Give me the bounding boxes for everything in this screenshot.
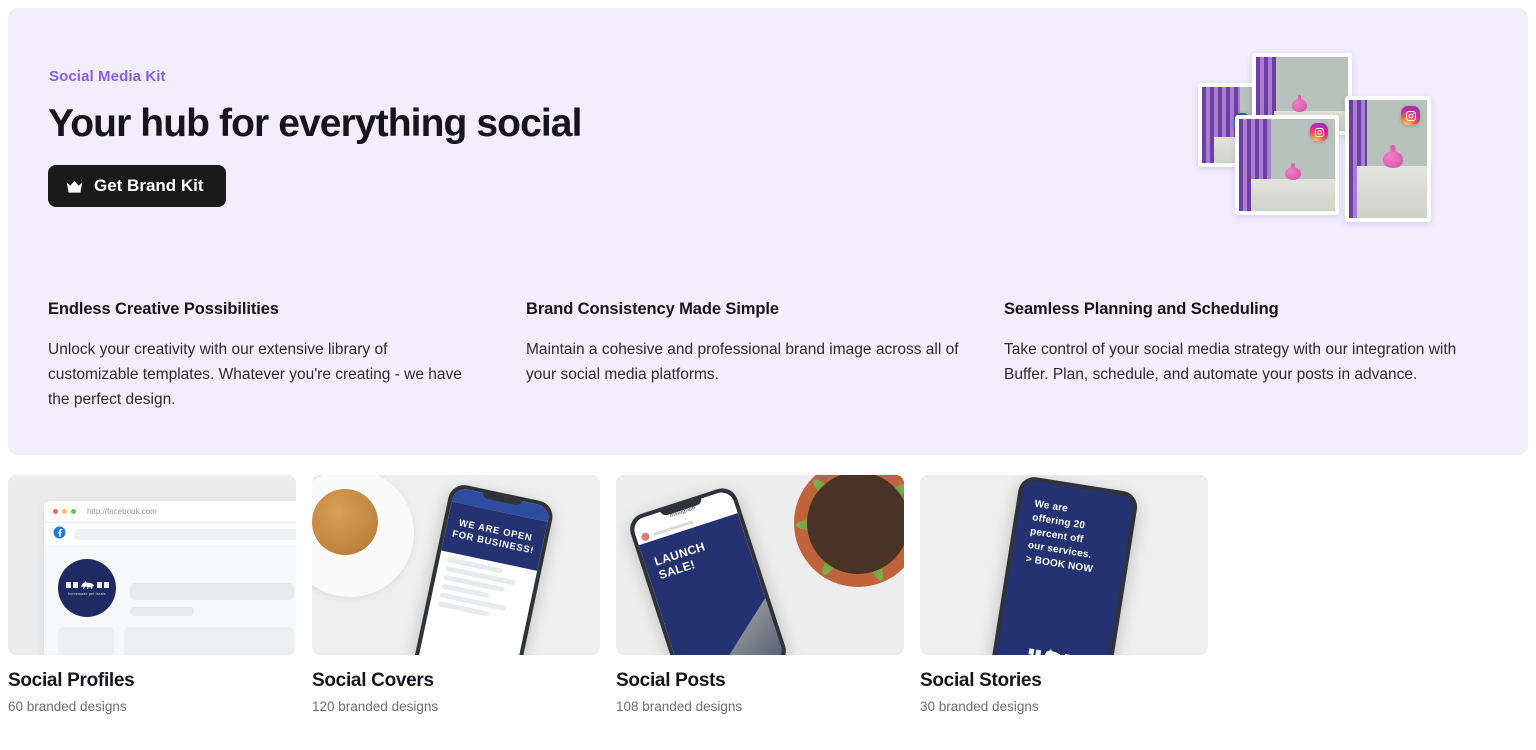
skeleton-line [130,607,194,616]
feature-body: Unlock your creativity with our extensiv… [48,337,481,412]
category-card-grid: http://facebook.com [8,475,1208,714]
traffic-light-yellow [62,509,67,514]
champagne-photo [658,576,785,655]
phone-screen: WE ARE OPEN FOR BUSINESS! [415,487,550,655]
browser-toolbar: http://facebook.com [44,501,296,523]
get-brand-kit-label: Get Brand Kit [94,176,204,196]
card-count: 30 branded designs [920,699,1208,714]
page-root: Social Media Kit Your hub for everything… [0,0,1536,750]
feature-heading: Brand Consistency Made Simple [526,300,959,319]
facebook-navbar [44,523,296,547]
story-line-1: We are [1034,498,1069,514]
brand-avatar: homemade pet treats [58,559,116,617]
phone-screen: We are offering 20 percent off our servi… [993,479,1135,655]
feature-column: Seamless Planning and Scheduling Take co… [1004,300,1498,412]
card-title: Social Posts [616,670,904,692]
category-card-social-stories[interactable]: We are offering 20 percent off our servi… [920,475,1208,714]
coffee-cup-photo [312,475,414,597]
hero-eyebrow: Social Media Kit [49,68,166,85]
skeleton-line [130,583,294,600]
facebook-search-bar[interactable] [74,529,296,540]
card-thumbnail: We are offering 20 percent off our servi… [920,475,1208,655]
facebook-browser-mock: http://facebook.com [44,501,296,655]
feature-heading: Seamless Planning and Scheduling [1004,300,1498,319]
card-count: 120 branded designs [312,699,600,714]
instagram-icon [1310,123,1328,141]
category-card-social-posts[interactable]: Instagram LAUNCH SALE! [616,475,904,714]
skeleton-panel [124,627,294,655]
feature-column: Endless Creative Possibilities Unlock yo… [48,300,526,412]
get-brand-kit-button[interactable]: Get Brand Kit [48,165,226,207]
page-title: Your hub for everything social [48,102,582,146]
crown-icon [66,180,83,193]
card-title: Social Profiles [8,670,296,692]
card-count: 60 branded designs [8,699,296,714]
instagram-icon [1401,106,1420,125]
card-title: Social Covers [312,670,600,692]
brand-logo: homemade pet treats [1024,644,1082,655]
feature-heading: Endless Creative Possibilities [48,300,481,319]
dog-logo-icon [1028,644,1077,655]
phone-cover-mock: WE ARE OPEN FOR BUSINESS! [411,482,556,655]
category-card-social-profiles[interactable]: http://facebook.com [8,475,296,714]
facebook-icon [53,526,66,544]
traffic-light-green [71,509,76,514]
card-thumbnail: http://facebook.com [8,475,296,655]
traffic-light-red [53,509,58,514]
dog-logo-icon [66,580,109,590]
card-thumbnail: WE ARE OPEN FOR BUSINESS! [312,475,600,655]
card-thumbnail: Instagram LAUNCH SALE! [616,475,904,655]
phone-story-mock: We are offering 20 percent off our servi… [989,475,1140,655]
feature-body: Maintain a cohesive and professional bra… [526,337,959,387]
skeleton-panel [58,627,114,655]
browser-url: http://facebook.com [87,507,157,516]
facebook-profile-body: homemade pet treats [44,547,296,655]
feature-column: Brand Consistency Made Simple Maintain a… [526,300,1004,412]
plant-photo [794,475,904,587]
phone-screen: Instagram LAUNCH SALE! [631,489,785,655]
brand-name: homemade pet treats [68,592,106,596]
instagram-post-mock: Instagram LAUNCH SALE! [626,484,790,655]
feature-columns: Endless Creative Possibilities Unlock yo… [48,300,1498,412]
feature-body: Take control of your social media strate… [1004,337,1498,387]
avatar [640,532,650,542]
category-card-social-covers[interactable]: WE ARE OPEN FOR BUSINESS! Social Covers … [312,475,600,714]
hero-illustration [1193,53,1448,258]
card-count: 108 branded designs [616,699,904,714]
hero-banner: Social Media Kit Your hub for everything… [8,8,1528,455]
story-text: We are offering 20 percent off our servi… [1011,479,1135,581]
card-title: Social Stories [920,670,1208,692]
